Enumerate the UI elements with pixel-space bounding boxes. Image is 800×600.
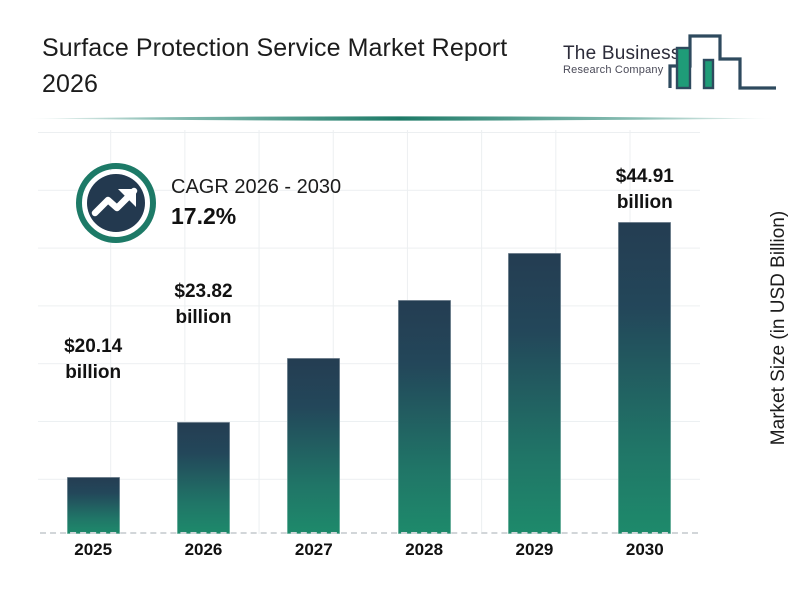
cagr-text-block: CAGR 2026 - 2030 17.2% [171,173,341,233]
bar-slot-2029 [480,130,588,534]
bar-slot-2028 [370,130,478,534]
cagr-badge: CAGR 2026 - 2030 17.2% [76,160,341,246]
trending-up-arrow-icon [76,163,156,243]
bar-value-label-2026: $23.82 billion [143,279,263,331]
bar-2025[interactable] [67,477,120,534]
bar-value-label-2025: $20.14 billion [33,334,153,386]
bar-2027[interactable] [287,358,340,534]
y-axis-title-text: Market Size (in USD Billion) [768,211,790,445]
x-tick-2029: 2029 [480,540,588,560]
bar-slot-2030: $44.91 billion [591,130,699,534]
cagr-value: 17.2% [171,201,341,231]
bar-2028[interactable] [398,300,451,534]
y-axis-title: Market Size (in USD Billion) [762,118,796,538]
bar-2029[interactable] [508,253,561,534]
cagr-period-label: CAGR 2026 - 2030 [171,173,341,201]
x-axis-labels: 2025 2026 2027 2028 2029 2030 [38,540,700,560]
x-tick-2025: 2025 [39,540,147,560]
x-tick-2026: 2026 [149,540,257,560]
bar-value-label-2030: $44.91 billion [585,164,705,216]
x-tick-2030: 2030 [591,540,699,560]
x-tick-2027: 2027 [260,540,368,560]
header: Surface Protection Service Market Report… [0,0,800,118]
x-tick-2028: 2028 [370,540,478,560]
page-title: Surface Protection Service Market Report… [42,30,562,102]
bar-2030[interactable] [618,222,671,534]
bar-2026[interactable] [177,422,230,534]
axis-baseline [40,532,698,534]
company-logo: The Business Research Company [563,26,778,98]
bar-chart-logo-mark [668,26,778,96]
